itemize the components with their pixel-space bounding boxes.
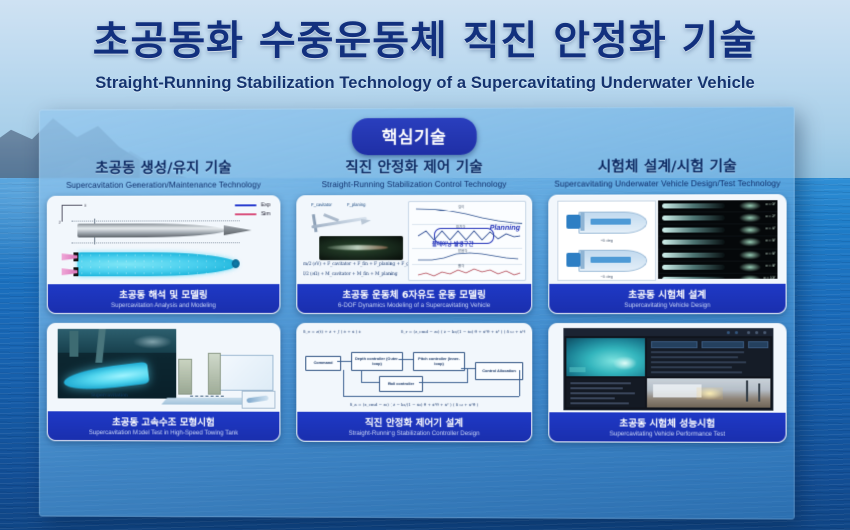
column-1-title-korean: 초공동 생성/유지 기술 [66, 156, 261, 177]
strip-frame: α = 0° [658, 200, 777, 212]
technology-column-3: 시험체 설계/시험 기술 Supercavitating Underwater … [540, 155, 794, 516]
cad-cavitator-head [566, 215, 580, 229]
card-supercavitation-analysis[interactable]: x z Exp Sim [47, 195, 281, 314]
control-parameter-panel [647, 338, 770, 376]
axis-label-x: x [84, 203, 86, 208]
telemetry-row [570, 397, 614, 399]
caption-english: Supercavitating Vehicle Performance Test [551, 430, 783, 438]
chart-depth: 깊이 [412, 204, 522, 225]
caption-korean: 직진 안정화 제어기 설계 [299, 415, 529, 430]
card-caption-3: 초공동 시험체 설계 Supercavitating Vehicle Desig… [549, 284, 785, 313]
vehicle-schematic [305, 204, 375, 238]
parameter-row [651, 371, 742, 373]
window-minimize-icon [747, 331, 750, 334]
force-label-cavitator: F_cavitator [311, 202, 332, 207]
photo-cavity-streak [328, 245, 388, 250]
cavity-spray-texture [77, 252, 237, 276]
carriage-strut-1 [70, 331, 79, 357]
telemetry-row [570, 402, 628, 404]
cavity-closure [232, 259, 240, 268]
cavity-jet [662, 228, 725, 233]
response-chart-stack: 깊이 피치각 Planning [408, 201, 526, 281]
legend-item-sim: Sim [235, 211, 270, 217]
column-2-title-korean: 직진 안정화 제어 기술 [322, 156, 507, 178]
figure-cavity-profile: x z Exp Sim [48, 196, 280, 284]
schematic-fin-vertical [312, 214, 318, 232]
card-towing-tank-test[interactable]: Supercavitation 초공동 고속수조 모형시험 Supercavit… [47, 323, 281, 442]
axis-label-z: z [59, 220, 61, 225]
guide-line-top [71, 220, 239, 221]
test-software-window [563, 328, 773, 411]
strip-frame: α = 2° [658, 212, 777, 224]
cad-ring [580, 251, 584, 269]
strip-label: α = 2° [766, 214, 776, 218]
page-title-korean: 초공동화 수중운동체 직진 안정화 기술 [0, 8, 850, 66]
telemetry-row [570, 387, 622, 389]
facility-pole-1 [746, 381, 748, 402]
force-label-planing: F_planing [347, 202, 365, 207]
caption-english: Supercavitation Model Test in High-Speed… [50, 429, 278, 437]
wire-into-roll [361, 382, 379, 383]
callout-leader-line [190, 396, 224, 397]
cavity-flare [739, 250, 761, 259]
wire-feedback-right [519, 370, 520, 396]
core-technology-badge: 핵심기술 [352, 118, 477, 155]
caption-korean: 초공동 시험체 설계 [551, 287, 783, 301]
vehicle-nose [224, 225, 252, 235]
cavity-jet [662, 240, 725, 245]
annotation-supercavitation: Supercavitation [91, 393, 128, 398]
window-close-icon [763, 331, 766, 334]
caption-english: Straight-Running Stabilization Controlle… [299, 430, 529, 438]
app-title-bar [564, 329, 772, 336]
facility-light-flare [696, 387, 722, 399]
caption-english: Supercavitating Vehicle Design [551, 302, 783, 309]
strip-label: α = 8° [766, 263, 776, 267]
video-cavity-glow [613, 356, 637, 370]
cavity-jet [662, 252, 725, 257]
cad-core [591, 219, 631, 225]
legend-swatch-sim [235, 213, 257, 215]
wire-depth-to-roll [361, 370, 362, 382]
telemetry-row [570, 382, 630, 384]
parameter-row [651, 351, 744, 353]
cad-view-positive [566, 208, 647, 236]
card-caption-1: 초공동 해석 및 모델링 Supercavitation Analysis an… [48, 284, 280, 313]
strip-frame: α = 8° [658, 261, 777, 273]
cad-cavitator-head [566, 253, 580, 267]
toolbar-icon [727, 331, 730, 334]
slide-photo: 초공동화 수중운동체 직진 안정화 기술 Straight-Running St… [0, 0, 850, 530]
cad-panel: +5 deg −5 deg [557, 200, 656, 280]
cad-column-2 [208, 353, 221, 395]
column-1-header: 초공동 생성/유지 기술 Supercavitation Generation/… [66, 156, 261, 189]
telemetry-row [570, 392, 634, 394]
test-facility-photo [647, 378, 770, 407]
card-vehicle-design[interactable]: +5 deg −5 deg [548, 194, 786, 314]
legend-item-exp: Exp [235, 202, 270, 208]
card-performance-test[interactable]: 초공동 시험체 성능시험 Supercavitating Vehicle Per… [548, 323, 786, 443]
card-caption-2: 초공동 운동체 6자유도 운동 모델링 6-DOF Dynamics Model… [297, 284, 531, 313]
wire-roll-to-allocation [419, 382, 467, 383]
cad-core [591, 257, 631, 263]
column-3-header: 시험체 설계/시험 기술 Supercavitating Underwater … [554, 155, 780, 189]
figure-legend: Exp Sim [235, 202, 270, 220]
cad-ring [580, 213, 584, 231]
panel-tab-button [651, 341, 697, 348]
column-1-title-english: Supercavitation Generation/Maintenance T… [66, 180, 261, 189]
block-roll-controller: Roll controller [379, 376, 423, 392]
strip-label: α = 6° [766, 251, 776, 255]
figure-cad-and-strip: +5 deg −5 deg [549, 195, 785, 284]
annotation-planning-region-korean: 플레이닝 발생구간 [432, 240, 474, 248]
cad-label-negative: −5 deg [558, 274, 655, 279]
equation-rotational: I/2 (∂Ω) + M_cavitator + M_fin + M_plani… [303, 272, 397, 277]
wire-merge-vertical [467, 368, 468, 383]
column-2-title-english: Straight-Running Stabilization Control T… [322, 180, 507, 189]
wire-depth-to-pitch [399, 359, 413, 360]
figure-software-ui [549, 324, 785, 413]
equation-2: δ_r = (z_cmd − z₀) ( ż − k₂/(1 − ẋ₀) θ +… [401, 329, 525, 334]
technology-columns: 초공동 생성/유지 기술 Supercavitation Generation/… [39, 155, 795, 516]
parameter-row [651, 361, 746, 363]
caption-english: Supercavitation Analysis and Modeling [50, 302, 278, 309]
cavity-flare [739, 274, 761, 278]
inset-vehicle [246, 395, 268, 403]
caption-korean: 초공동 해석 및 모델링 [50, 287, 278, 301]
cavity-jet [662, 264, 725, 269]
caption-english: 6-DOF Dynamics Modeling of a Supercavita… [299, 302, 529, 309]
panel-action-button [748, 341, 768, 348]
guide-line-bottom [71, 242, 239, 243]
telemetry-side-panel [566, 378, 645, 407]
facility-structure [653, 384, 701, 397]
vehicle-body-render [77, 223, 225, 237]
chart-pitch: 피치각 Planning 플레이닝 발생구간 [412, 224, 522, 249]
figure-block-diagram: δ_e = z(t) + ż + ∫ ( ė + ẋ ) ż δ_r = (z_… [297, 324, 531, 412]
strip-frame: α = 10° [658, 273, 777, 278]
column-3-title-english: Supercavitating Underwater Vehicle Desig… [554, 179, 780, 189]
block-depth-controller: Depth controller (Outer-loop) [351, 352, 403, 371]
presentation-slide-panel: 핵심기술 초공동 생성/유지 기술 Supercavitation Genera… [39, 106, 795, 519]
wire-feedback-bottom [343, 396, 519, 397]
strip-label: α = 0° [766, 202, 776, 206]
panel-tab-button [702, 341, 745, 348]
cavity-flare [739, 238, 761, 247]
caption-korean: 초공동 시험체 성능시험 [551, 415, 783, 430]
figure-dynamics-model: F_cavitator F_planing m/2 (∂V) + F_cavit… [297, 196, 531, 284]
card-caption-5: 직진 안정화 제어기 설계 Straight-Running Stabiliza… [297, 412, 531, 442]
cavity-jet [662, 277, 725, 279]
figure-towing-tank: Supercavitation [48, 324, 280, 412]
card-6dof-modeling[interactable]: F_cavitator F_planing m/2 (∂V) + F_cavit… [296, 195, 532, 314]
caption-korean: 초공동 운동체 6자유도 운동 모델링 [299, 287, 529, 301]
legend-label-exp: Exp [261, 202, 271, 208]
cavity-jet [662, 203, 725, 208]
towing-tank-photo [58, 329, 177, 399]
strip-label: α = 4° [766, 227, 776, 231]
cad-view-negative [566, 246, 647, 274]
legend-swatch-exp [235, 204, 257, 206]
strip-label: α = 10° [764, 275, 776, 278]
wire-command-to-depth [337, 361, 351, 362]
technology-column-2: 직진 안정화 제어 기술 Straight-Running Stabilizat… [288, 156, 540, 515]
column-3-title-korean: 시험체 설계/시험 기술 [554, 155, 780, 177]
block-pitch-controller: Pitch controller (Inner-loop) [413, 352, 465, 371]
cad-inset-detail [242, 391, 276, 409]
cavity-jet [662, 216, 725, 221]
column-2-header: 직진 안정화 제어 기술 Straight-Running Stabilizat… [322, 156, 507, 190]
tank-cad-schematic [164, 353, 275, 409]
strip-frame: α = 6° [658, 249, 777, 261]
test-image-strip: α = 0° α = 2° α = 4° [658, 200, 777, 279]
strip-label: α = 5° [766, 239, 776, 243]
aoa-curve [418, 251, 522, 263]
card-controller-design[interactable]: δ_e = z(t) + ż + ∫ ( ė + ẋ ) ż δ_r = (z_… [296, 323, 532, 442]
cad-column-1 [178, 359, 192, 395]
chart-roll: 롤각 [412, 264, 522, 279]
cavity-flare [739, 226, 761, 235]
legend-label-sim: Sim [261, 211, 271, 217]
title-block: 초공동화 수중운동체 직진 안정화 기술 Straight-Running St… [0, 0, 850, 108]
window-maximize-icon [755, 331, 758, 334]
parameter-row [651, 356, 738, 358]
cavity-flare [739, 201, 761, 210]
toolbar-icon [735, 331, 738, 334]
cavity-flare [739, 262, 761, 271]
caption-korean: 초공동 고속수조 모형시험 [50, 414, 278, 428]
cavitation-tunnel-photo [319, 236, 403, 260]
equation-1: δ_e = z(t) + ż + ∫ ( ė + ẋ ) ż [303, 329, 399, 334]
axis-marker-icon [62, 205, 83, 222]
facility-pole-2 [758, 384, 760, 402]
strip-frame: α = 5° [658, 237, 777, 249]
card-caption-4: 초공동 고속수조 모형시험 Supercavitation Model Test… [48, 411, 280, 440]
page-title-english: Straight-Running Stabilization Technolog… [0, 74, 850, 93]
foam-wake [133, 335, 173, 349]
supercavity-glow [63, 362, 150, 394]
underwater-video-feed [566, 338, 645, 376]
block-control-allocation: Control Allocation [475, 362, 523, 380]
card-caption-6: 초공동 시험체 성능시험 Supercavitating Vehicle Per… [549, 412, 785, 442]
roll-curve [418, 267, 522, 279]
video-overlay-tag [569, 367, 585, 372]
parameter-row [651, 366, 732, 368]
annotation-planning: Planning [490, 223, 520, 232]
cad-label-positive: +5 deg [558, 238, 655, 243]
strip-frame: α = 4° [658, 225, 777, 237]
technology-column-1: 초공동 생성/유지 기술 Supercavitation Generation/… [39, 156, 288, 513]
block-command: Command [305, 356, 341, 371]
cad-base-plate [161, 398, 250, 405]
cavity-envelope [77, 252, 237, 276]
equation-3: δ_a = (z_cmd − z₀) ( ż − k₂/(1 − ẋ₀) θ +… [305, 402, 523, 407]
wire-feedback-left [343, 370, 344, 396]
chart-angle-of-attack: 받음각 [412, 248, 522, 265]
cavity-flare [739, 213, 761, 222]
